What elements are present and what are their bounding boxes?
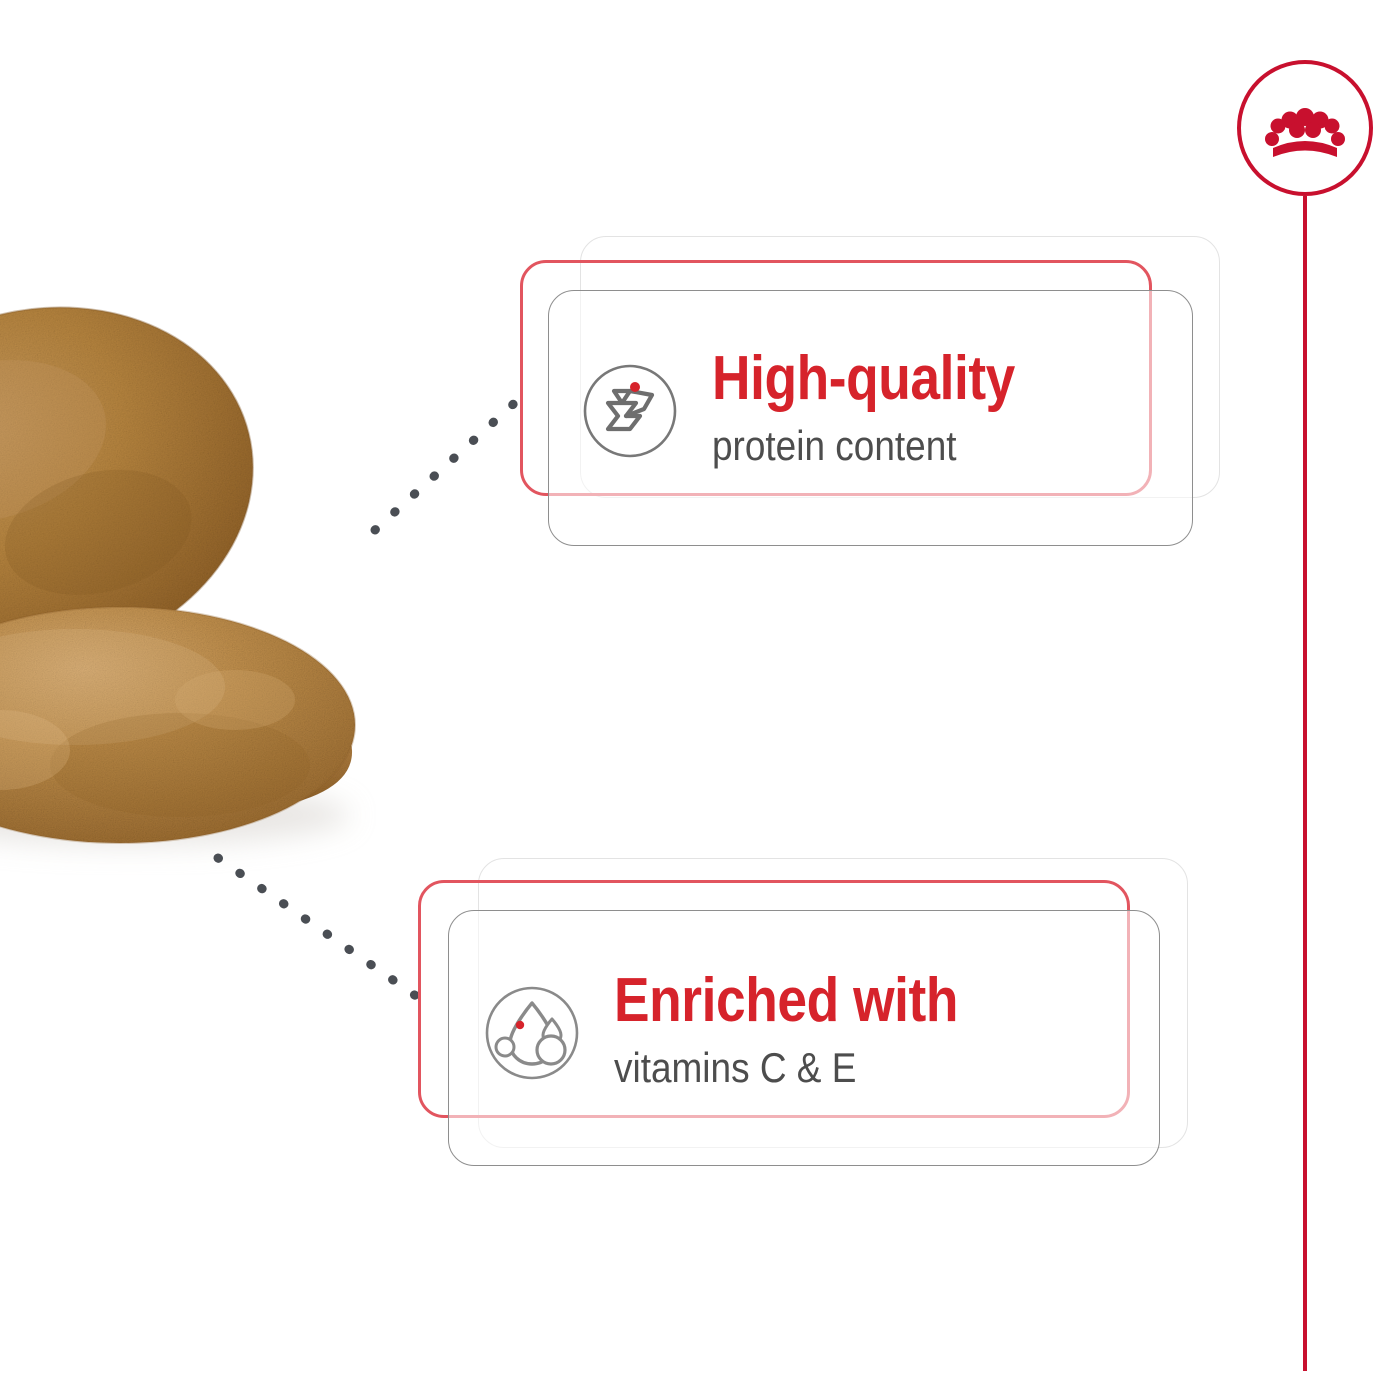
feature-card-content: High-quality protein content (578, 298, 1178, 523)
feature-card-high-quality-protein[interactable]: High-quality protein content (520, 236, 1220, 546)
feature-card-vitamins-c-and-e[interactable]: Enriched with vitamins C & E (418, 858, 1188, 1168)
feature-text-block: Enriched with vitamins C & E (614, 971, 1014, 1094)
feature-title: Enriched with (614, 971, 958, 1032)
feature-subtitle: vitamins C & E (614, 1042, 966, 1095)
protein-molecule-icon (578, 359, 682, 463)
brand-stem-line (1303, 196, 1307, 1371)
feature-title: High-quality (712, 349, 1015, 410)
water-droplet-vitamin-icon (480, 981, 584, 1085)
connector-line-protein (365, 378, 540, 543)
feature-subtitle: protein content (712, 420, 1022, 473)
feature-text-block: High-quality protein content (712, 349, 1064, 472)
royal-canin-crown-logo (1235, 58, 1375, 198)
feature-card-content: Enriched with vitamins C & E (480, 918, 1150, 1148)
connector-line-vitamins (210, 850, 425, 1005)
poster-canvas: High-quality protein content (0, 0, 1400, 1400)
